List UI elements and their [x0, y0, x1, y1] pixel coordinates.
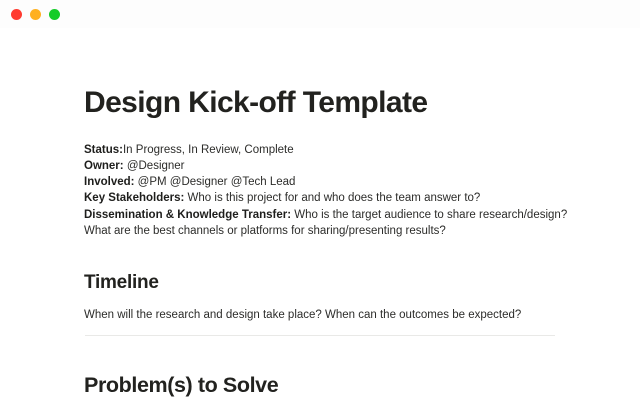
- section-paragraph-timeline: When will the research and design take p…: [84, 295, 556, 323]
- meta-row-status: Status:In Progress, In Review, Complete: [84, 142, 556, 158]
- meta-value-dissemination-cont: What are the best channels or platforms …: [84, 225, 446, 237]
- meta-value-dissemination: Who is the target audience to share rese…: [291, 209, 567, 221]
- document-meta-block: Status:In Progress, In Review, Complete …: [84, 142, 556, 240]
- document-canvas[interactable]: Design Kick-off Template Status:In Progr…: [0, 28, 640, 400]
- meta-value-status: In Progress, In Review, Complete: [123, 144, 294, 156]
- meta-value-key-stakeholders: Who is this project for and who does the…: [184, 192, 480, 204]
- section-heading-problems-to-solve: Problem(s) to Solve: [84, 344, 556, 399]
- meta-value-involved: @PM @Designer @Tech Lead: [134, 176, 295, 188]
- meta-row-dissemination-cont: What are the best channels or platforms …: [84, 223, 556, 239]
- meta-row-dissemination: Dissemination & Knowledge Transfer: Who …: [84, 207, 556, 223]
- meta-row-key-stakeholders: Key Stakeholders: Who is this project fo…: [84, 190, 556, 206]
- page-title: Design Kick-off Template: [84, 28, 556, 120]
- meta-row-owner: Owner: @Designer: [84, 158, 556, 174]
- meta-row-involved: Involved: @PM @Designer @Tech Lead: [84, 174, 556, 190]
- app-window: Design Kick-off Template Status:In Progr…: [0, 0, 640, 400]
- meta-label-key-stakeholders: Key Stakeholders:: [84, 192, 184, 204]
- minimize-window-button[interactable]: [30, 9, 41, 20]
- close-window-button[interactable]: [11, 9, 22, 20]
- meta-label-owner: Owner:: [84, 160, 124, 172]
- section-heading-timeline: Timeline: [84, 239, 556, 295]
- window-titlebar: [0, 0, 640, 28]
- maximize-window-button[interactable]: [49, 9, 60, 20]
- meta-label-involved: Involved:: [84, 176, 134, 188]
- section-divider: [85, 335, 555, 336]
- meta-label-dissemination: Dissemination & Knowledge Transfer:: [84, 209, 291, 221]
- window-traffic-lights: [11, 9, 60, 20]
- meta-label-status: Status:: [84, 144, 123, 156]
- meta-value-owner: @Designer: [124, 160, 185, 172]
